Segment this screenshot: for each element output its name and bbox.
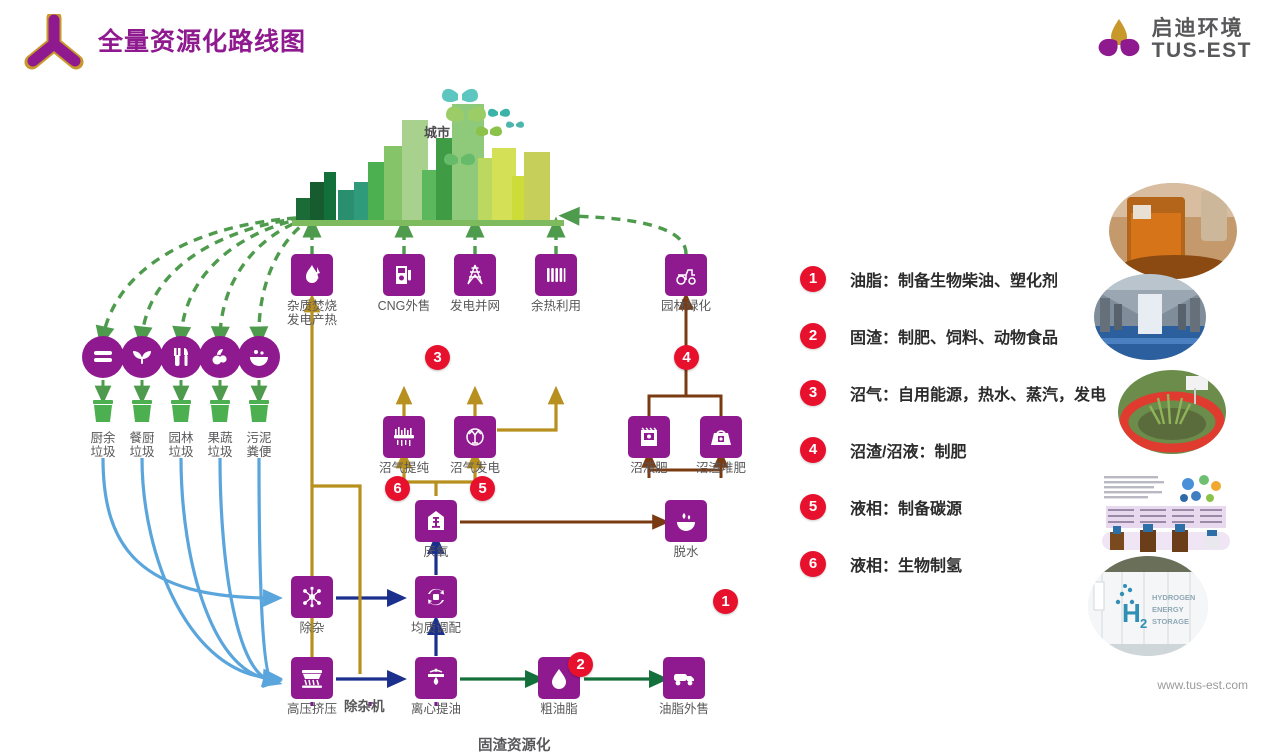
legend-list: 1 油脂：制备生物柴油、塑化剂 2 固渣：制肥、饲料、动物食品 3 沼气：自用能… bbox=[800, 250, 1130, 592]
waste-bin-icon-2 bbox=[129, 398, 155, 424]
sludge-waste-icon bbox=[238, 336, 280, 378]
centrifuge-icon bbox=[415, 657, 457, 699]
badge-6: 6 bbox=[385, 476, 410, 501]
planted-bed-photo bbox=[1118, 370, 1226, 454]
generator-icon bbox=[454, 416, 496, 458]
badge-4: 4 bbox=[674, 345, 699, 370]
badge-2: 2 bbox=[568, 652, 593, 677]
badge-3: 3 bbox=[425, 345, 450, 370]
legend-text-2: 固渣：制肥、饲料、动物食品 bbox=[850, 324, 1058, 348]
legend-item-2: 2 固渣：制肥、饲料、动物食品 bbox=[800, 307, 1130, 364]
recycle-mix-icon bbox=[415, 576, 457, 618]
page-title: 全量资源化路线图 bbox=[98, 22, 306, 58]
separator-icon bbox=[291, 576, 333, 618]
legend-number-1: 1 bbox=[800, 266, 826, 292]
legend-number-4: 4 bbox=[800, 437, 826, 463]
node-homogenize[interactable]: 均质调配 bbox=[393, 576, 479, 635]
legend-text-3: 沼气：自用能源，热水、蒸汽，发电 bbox=[850, 381, 1106, 405]
legend-text-6: 液相：生物制氢 bbox=[850, 552, 962, 576]
compost-bag-icon bbox=[700, 416, 742, 458]
radiator-icon bbox=[535, 254, 577, 296]
node-dewater[interactable]: 脱水 bbox=[643, 500, 729, 559]
source-label-sludge-waste: 污泥 粪便 bbox=[216, 428, 302, 459]
digester-icon bbox=[415, 500, 457, 542]
legend-number-3: 3 bbox=[800, 380, 826, 406]
press-icon bbox=[291, 657, 333, 699]
node-waste-heat[interactable]: 余热利用 bbox=[513, 254, 599, 313]
logo-text-cn: 启迪环境 bbox=[1152, 18, 1252, 40]
legend-item-6: 6 液相：生物制氢 bbox=[800, 535, 1130, 592]
waste-bin-icon-5 bbox=[246, 398, 272, 424]
brand-mark-icon bbox=[22, 14, 86, 72]
tanker-truck-icon bbox=[663, 657, 705, 699]
node-anaerobic[interactable]: 厌氧 bbox=[393, 500, 479, 559]
corporate-logo: 启迪环境 TUS-EST bbox=[1095, 14, 1252, 66]
svg-text:ENERGY: ENERGY bbox=[1152, 605, 1184, 614]
badge-5: 5 bbox=[470, 476, 495, 501]
svg-text:HYDROGEN: HYDROGEN bbox=[1152, 593, 1195, 602]
node-grid-power[interactable]: 发电并网 bbox=[432, 254, 518, 313]
dewater-icon bbox=[665, 500, 707, 542]
node-oil-sale[interactable]: 油脂外售 bbox=[641, 657, 727, 716]
legend-text-4: 沼渣/沼液：制肥 bbox=[850, 438, 966, 462]
logo-text-en: TUS-EST bbox=[1152, 40, 1252, 62]
oil-beaker-photo bbox=[1109, 183, 1237, 279]
node-impurity-removal[interactable]: 除杂 bbox=[269, 576, 355, 635]
svg-text:STORAGE: STORAGE bbox=[1152, 617, 1189, 626]
process-flow-diagram: 城市 bbox=[0, 78, 790, 706]
waste-bin-icon-3 bbox=[168, 398, 194, 424]
power-tower-icon bbox=[454, 254, 496, 296]
fuel-pump-icon bbox=[383, 254, 425, 296]
legend-item-4: 4 沼渣/沼液：制肥 bbox=[800, 421, 1130, 478]
legend-item-1: 1 油脂：制备生物柴油、塑化剂 bbox=[800, 250, 1130, 307]
node-incineration[interactable]: 杂质焚烧 发电产热 bbox=[269, 254, 355, 327]
page-header: 全量资源化路线图 启迪环境 TUS-EST bbox=[0, 0, 1270, 78]
node-high-pressure-press[interactable]: 高压挤压 bbox=[269, 657, 355, 716]
legend-number-5: 5 bbox=[800, 494, 826, 520]
badge-1: 1 bbox=[713, 589, 738, 614]
hydrogen-storage-photo: H 2 HYDROGENENERGYSTORAGE bbox=[1088, 556, 1208, 656]
legend-text-5: 液相：制备碳源 bbox=[850, 495, 962, 519]
waste-bin-icon-1 bbox=[90, 398, 116, 424]
node-biogas-power[interactable]: 沼气发电 bbox=[432, 416, 518, 475]
label-separator-machine: 除杂机 bbox=[344, 695, 385, 715]
logo-leaf-icon bbox=[1095, 17, 1143, 63]
label-solid-residue: 固渣资源化 bbox=[478, 734, 551, 755]
legend-number-6: 6 bbox=[800, 551, 826, 577]
source-node-sludge-waste[interactable] bbox=[216, 336, 302, 378]
flame-icon bbox=[291, 254, 333, 296]
site-url: www.tus-est.com bbox=[1157, 678, 1248, 692]
legend-text-1: 油脂：制备生物柴油、塑化剂 bbox=[850, 267, 1058, 291]
purify-plant-icon bbox=[383, 416, 425, 458]
node-landscaping[interactable]: 园林绿化 bbox=[643, 254, 729, 313]
node-residue-compost[interactable]: 沼渣堆肥 bbox=[678, 416, 764, 475]
liquid-fertilizer-icon bbox=[628, 416, 670, 458]
plant-corridor-photo bbox=[1094, 274, 1206, 360]
legend-item-5: 5 液相：制备碳源 bbox=[800, 478, 1130, 535]
tractor-icon bbox=[665, 254, 707, 296]
product-brochure-photo bbox=[1096, 470, 1236, 560]
city-label: 城市 bbox=[424, 122, 450, 141]
legend-number-2: 2 bbox=[800, 323, 826, 349]
waste-bin-icon-4 bbox=[207, 398, 233, 424]
legend-item-3: 3 沼气：自用能源，热水、蒸汽，发电 bbox=[800, 364, 1130, 421]
city-illustration bbox=[292, 86, 564, 226]
node-centrifuge-oil[interactable]: 离心提油 bbox=[393, 657, 479, 716]
svg-text:2: 2 bbox=[1140, 616, 1147, 631]
